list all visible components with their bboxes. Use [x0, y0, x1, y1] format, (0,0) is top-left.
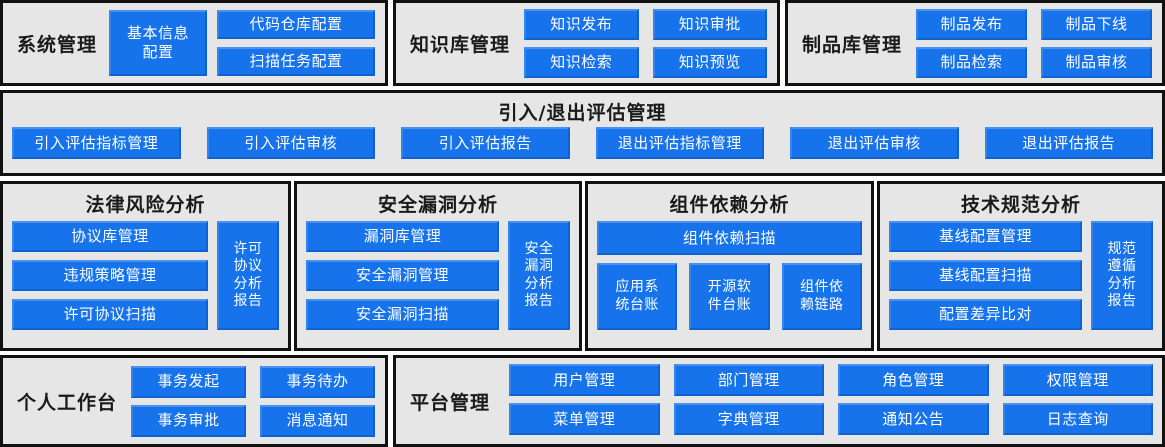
tile-baseline-config-mgmt[interactable]: 基线配置管理	[889, 221, 1082, 252]
tile-message-notification[interactable]: 消息通知	[260, 405, 375, 437]
tile-license-analysis-report[interactable]: 许可 协议 分析 报告	[217, 221, 279, 330]
technical-specification-body: 基线配置管理 基线配置扫描 配置差异比对 规范 遵循 分析 报告	[880, 221, 1162, 338]
tile-knowledge-preview[interactable]: 知识预览	[653, 47, 768, 78]
panel-title-component-dependency-analysis: 组件依赖分析	[588, 184, 871, 221]
platform-management-tiles: 用户管理 部门管理 角色管理 权限管理 菜单管理 字典管理 通知公告 日志查询	[500, 358, 1162, 444]
panel-title-knowledge-management: 知识库管理	[396, 30, 520, 57]
security-vulnerability-body: 漏洞库管理 安全漏洞管理 安全漏洞扫描 安全 漏洞 分析 报告	[297, 221, 579, 338]
tile-product-offline[interactable]: 制品下线	[1041, 9, 1152, 40]
tile-license-agreement-scan[interactable]: 许可协议扫描	[12, 299, 208, 330]
tile-product-publish[interactable]: 制品发布	[916, 9, 1027, 40]
tile-exit-eval-metric-mgmt[interactable]: 退出评估指标管理	[596, 127, 765, 159]
tile-user-management[interactable]: 用户管理	[509, 364, 659, 396]
tile-product-audit[interactable]: 制品审核	[1041, 47, 1152, 78]
evaluation-management-tiles: 引入评估指标管理 引入评估审核 引入评估报告 退出评估指标管理 退出评估审核 退…	[3, 127, 1162, 159]
panel-component-dependency-analysis: 组件依赖分析 组件依赖扫描 应用系 统台账 开源软 件台账 组件依 赖链路	[585, 181, 874, 351]
panel-title-personal-workbench: 个人工作台	[3, 388, 127, 415]
tile-component-dependency-chain[interactable]: 组件依 赖链路	[782, 263, 862, 330]
tile-exit-eval-review[interactable]: 退出评估审核	[790, 127, 959, 159]
architecture-diagram: 系统管理 基本信息 配置 代码仓库配置 扫描任务配置 知识库管理 知识发布 知识…	[0, 0, 1165, 447]
tile-baseline-config-scan[interactable]: 基线配置扫描	[889, 260, 1082, 291]
panel-system-management: 系统管理 基本信息 配置 代码仓库配置 扫描任务配置	[0, 0, 388, 86]
tile-spec-compliance-analysis-report[interactable]: 规范 遵循 分析 报告	[1091, 221, 1153, 330]
tile-intro-eval-metric-mgmt[interactable]: 引入评估指标管理	[12, 127, 181, 159]
legal-risk-body: 协议库管理 违规策略管理 许可协议扫描 许可 协议 分析 报告	[3, 221, 288, 338]
tile-task-todo[interactable]: 事务待办	[260, 366, 375, 398]
tile-open-source-software-ledger[interactable]: 开源软 件台账	[689, 263, 769, 330]
panel-knowledge-management: 知识库管理 知识发布 知识审批 知识检索 知识预览	[393, 0, 780, 86]
tile-knowledge-publish[interactable]: 知识发布	[524, 9, 638, 40]
tile-component-dependency-scan[interactable]: 组件依赖扫描	[597, 221, 862, 255]
panel-title-product-repo-management: 制品库管理	[788, 30, 912, 57]
component-dependency-body: 组件依赖扫描 应用系 统台账 开源软 件台账 组件依 赖链路	[588, 221, 871, 338]
tile-dictionary-management[interactable]: 字典管理	[674, 403, 825, 435]
tile-notice-announcement[interactable]: 通知公告	[838, 403, 989, 435]
tile-role-management[interactable]: 角色管理	[838, 364, 989, 396]
tile-intro-eval-report[interactable]: 引入评估报告	[401, 127, 570, 159]
panel-evaluation-management: 引入/退出评估管理 引入评估指标管理 引入评估审核 引入评估报告 退出评估指标管…	[0, 90, 1165, 176]
panel-security-vulnerability-analysis: 安全漏洞分析 漏洞库管理 安全漏洞管理 安全漏洞扫描 安全 漏洞 分析 报告	[294, 181, 582, 351]
panel-title-security-vulnerability-analysis: 安全漏洞分析	[297, 184, 579, 221]
tile-basic-info-config[interactable]: 基本信息 配置	[109, 10, 207, 76]
tile-security-vuln-mgmt[interactable]: 安全漏洞管理	[306, 260, 499, 291]
tile-security-vuln-analysis-report[interactable]: 安全 漏洞 分析 报告	[508, 221, 570, 330]
tile-intro-eval-review[interactable]: 引入评估审核	[207, 127, 376, 159]
tile-task-approval[interactable]: 事务审批	[131, 405, 246, 437]
tile-app-system-ledger[interactable]: 应用系 统台账	[597, 263, 677, 330]
tile-knowledge-approval[interactable]: 知识审批	[653, 9, 768, 40]
panel-technical-specification-analysis: 技术规范分析 基线配置管理 基线配置扫描 配置差异比对 规范 遵循 分析 报告	[877, 181, 1165, 351]
tile-code-repo-config[interactable]: 代码仓库配置	[217, 10, 375, 39]
panel-title-technical-specification-analysis: 技术规范分析	[880, 184, 1162, 221]
tile-security-vuln-scan[interactable]: 安全漏洞扫描	[306, 299, 499, 330]
panel-personal-workbench: 个人工作台 事务发起 事务待办 事务审批 消息通知	[0, 355, 388, 447]
panel-product-repo-management: 制品库管理 制品发布 制品下线 制品检索 制品审核	[785, 0, 1165, 86]
tile-permission-management[interactable]: 权限管理	[1003, 364, 1154, 396]
tile-knowledge-search[interactable]: 知识检索	[524, 47, 638, 78]
tile-violation-policy-mgmt[interactable]: 违规策略管理	[12, 260, 208, 291]
tile-config-diff-compare[interactable]: 配置差异比对	[889, 299, 1082, 330]
panel-title-platform-management: 平台管理	[396, 388, 500, 415]
tile-agreement-repo-mgmt[interactable]: 协议库管理	[12, 221, 208, 252]
knowledge-management-tiles: 知识发布 知识审批 知识检索 知识预览	[520, 3, 777, 83]
tile-exit-eval-report[interactable]: 退出评估报告	[985, 127, 1154, 159]
tile-log-query[interactable]: 日志查询	[1003, 403, 1154, 435]
tile-department-management[interactable]: 部门管理	[674, 364, 825, 396]
personal-workbench-tiles: 事务发起 事务待办 事务审批 消息通知	[127, 358, 385, 444]
panel-platform-management: 平台管理 用户管理 部门管理 角色管理 权限管理 菜单管理 字典管理 通知公告 …	[393, 355, 1165, 447]
tile-menu-management[interactable]: 菜单管理	[509, 403, 659, 435]
panel-legal-risk-analysis: 法律风险分析 协议库管理 违规策略管理 许可协议扫描 许可 协议 分析 报告	[0, 181, 291, 351]
tile-task-initiate[interactable]: 事务发起	[131, 366, 246, 398]
tile-scan-task-config[interactable]: 扫描任务配置	[217, 47, 375, 76]
panel-title-evaluation-management: 引入/退出评估管理	[3, 93, 1162, 127]
tile-product-search[interactable]: 制品检索	[916, 47, 1027, 78]
panel-title-system-management: 系统管理	[3, 30, 107, 57]
tile-vuln-repo-mgmt[interactable]: 漏洞库管理	[306, 221, 499, 252]
system-management-tiles: 基本信息 配置 代码仓库配置 扫描任务配置	[107, 3, 385, 83]
product-repo-tiles: 制品发布 制品下线 制品检索 制品审核	[912, 3, 1162, 83]
panel-title-legal-risk-analysis: 法律风险分析	[3, 184, 288, 221]
